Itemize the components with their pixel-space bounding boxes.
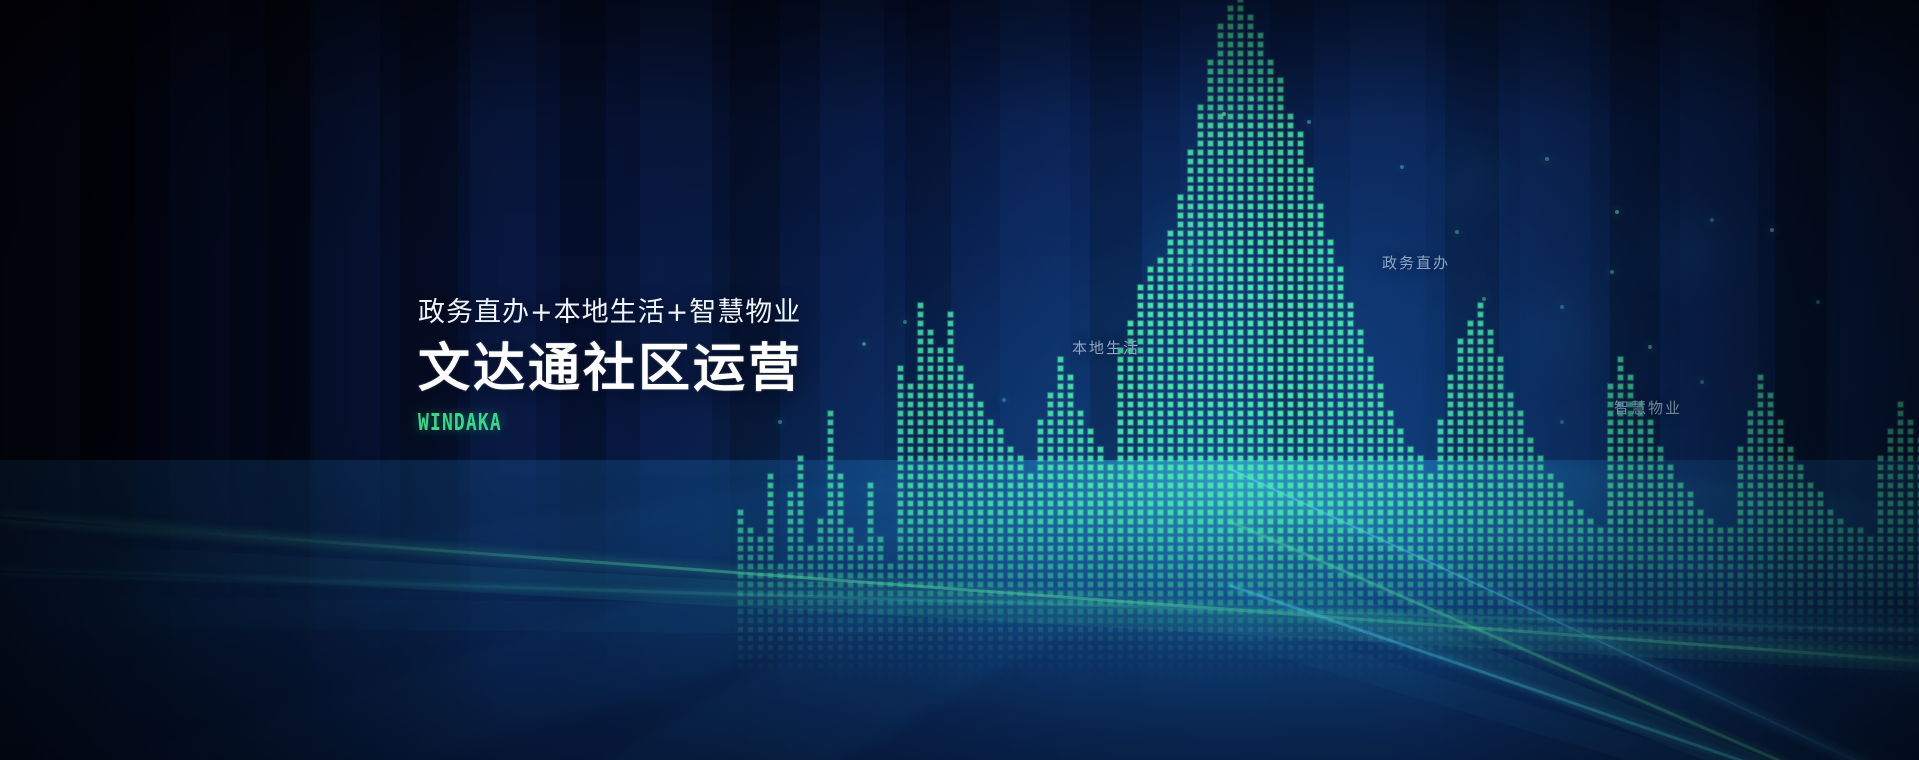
hero-banner: 政务直办本地生活智慧物业 政务直办+本地生活+智慧物业 文达通社区运营 WIND…: [0, 0, 1919, 760]
chart-label-3: 智慧物业: [1614, 397, 1682, 418]
perspective-floor: [0, 460, 1919, 760]
glow-particle: [1350, 440, 1354, 444]
glow-particle: [1648, 345, 1652, 349]
glow-particle: [903, 320, 907, 324]
glow-particle: [1560, 420, 1564, 424]
glow-particle: [1002, 398, 1006, 402]
glow-particle: [1222, 112, 1226, 116]
copy-block: 政务直办+本地生活+智慧物业 文达通社区运营 WINDAKA: [418, 296, 803, 436]
brand-wordmark: WINDAKA: [418, 410, 718, 436]
glow-particle: [1610, 270, 1614, 274]
glow-particle: [1560, 305, 1564, 309]
glow-particle: [1188, 262, 1192, 266]
glow-particle: [1400, 165, 1404, 169]
chart-label-1: 政务直办: [1382, 252, 1450, 273]
glow-particle: [1700, 380, 1704, 384]
glow-particle: [1482, 297, 1486, 301]
hero-title: 文达通社区运营: [418, 340, 803, 398]
glow-particle: [1615, 210, 1619, 214]
glow-particle: [1545, 157, 1549, 161]
glow-particle: [1307, 120, 1311, 124]
glow-particle: [862, 342, 866, 346]
glow-particle: [1268, 288, 1272, 292]
glow-particle: [1455, 230, 1459, 234]
chart-label-2: 本地生活: [1072, 337, 1140, 358]
glow-particle: [1710, 218, 1714, 222]
glow-particle: [1250, 97, 1254, 101]
hero-subtitle: 政务直办+本地生活+智慧物业: [418, 296, 803, 330]
floor-vanishing-glow: [0, 460, 1919, 760]
glow-particle: [1816, 300, 1820, 304]
glow-particle: [1130, 470, 1134, 474]
glow-particle: [1770, 228, 1774, 232]
